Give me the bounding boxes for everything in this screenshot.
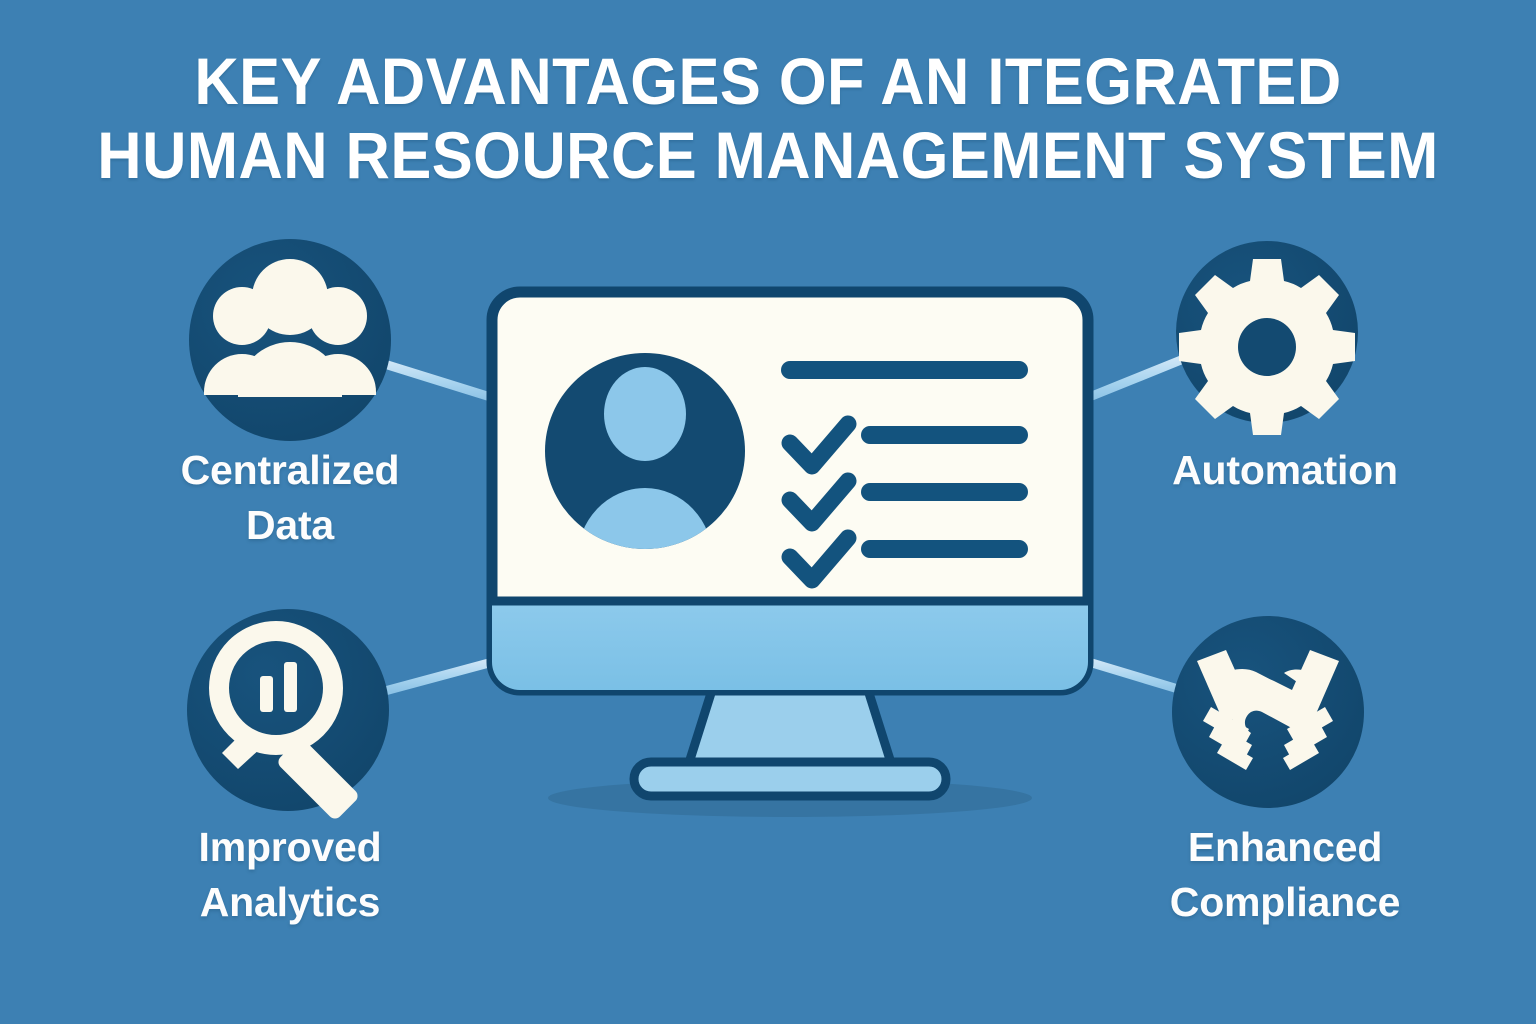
row-bar-1	[861, 426, 1028, 444]
label-improved-analytics: Improved Analytics	[110, 820, 470, 930]
connector-automation	[1082, 358, 1186, 400]
node-centralized-data[interactable]	[189, 239, 391, 441]
monitor-body	[492, 292, 1088, 696]
gear-icon	[1179, 259, 1355, 435]
infographic-canvas: KEY ADVANTAGES OF AN ITEGRATED HUMAN RES…	[0, 0, 1536, 1024]
connector-improved-analytics	[381, 660, 500, 692]
node-automation[interactable]	[1176, 241, 1358, 435]
monitor-stand	[634, 690, 946, 796]
node-enhanced-compliance[interactable]	[1172, 616, 1364, 808]
connector-enhanced-compliance	[1082, 660, 1188, 692]
connector-centralized-data	[378, 362, 500, 400]
row-header-bar	[781, 361, 1028, 379]
row-bar-2	[861, 483, 1028, 501]
stand-base	[634, 762, 946, 796]
label-automation: Automation	[1095, 443, 1475, 498]
node-improved-analytics[interactable]	[187, 609, 389, 821]
stand-neck	[688, 690, 892, 766]
monitor-bottom-band	[492, 601, 1088, 696]
label-centralized-data: Centralized Data	[120, 443, 460, 553]
label-enhanced-compliance: Enhanced Compliance	[1075, 820, 1495, 930]
row-bar-3	[861, 540, 1028, 558]
